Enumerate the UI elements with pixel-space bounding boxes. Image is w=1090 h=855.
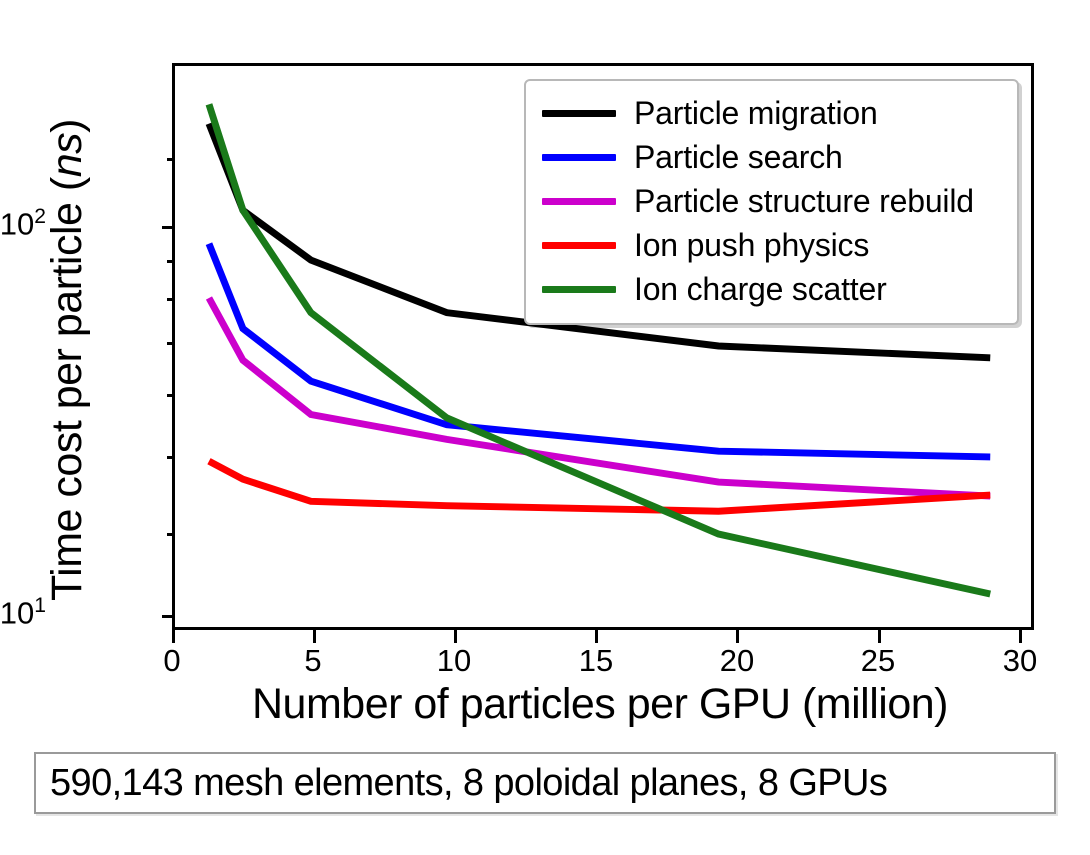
y-minor-tick-50 — [167, 456, 175, 459]
y-minor-tick-60 — [167, 394, 175, 397]
legend-label-particle-search: Particle search — [634, 139, 843, 176]
x-tick-10 — [454, 630, 457, 643]
x-tick-25 — [878, 630, 881, 643]
x-tick-5 — [313, 630, 316, 643]
x-tick-20 — [736, 630, 739, 643]
legend-swatch-icon-particle-structure-rebuild — [542, 198, 616, 205]
x-tick-label-15: 15 — [566, 645, 626, 676]
legend-swatch-icon-ion-charge-scatter — [542, 286, 616, 293]
y-minor-tick-90 — [167, 260, 175, 263]
y-axis-title: Time cost per particle (ns) — [37, 60, 97, 660]
x-tick-label-25: 25 — [848, 645, 908, 676]
legend-item-particle-migration: Particle migration — [542, 91, 1001, 135]
legend-swatch-icon-ion-push-physics — [542, 242, 616, 249]
x-axis-title: Number of particles per GPU (million) — [140, 678, 1060, 730]
legend-label-ion-push-physics: Ion push physics — [634, 227, 869, 264]
legend-label-ion-charge-scatter: Ion charge scatter — [634, 271, 887, 308]
y-axis-title-close: ) — [43, 119, 92, 133]
y-minor-tick-200 — [167, 158, 175, 161]
legend-swatch-icon-particle-migration — [542, 110, 616, 117]
y-tick-100 — [162, 226, 175, 229]
legend-item-particle-search: Particle search — [542, 135, 1001, 179]
y-tick-label-100: 102 — [0, 206, 46, 239]
y-tick-label-10: 101 — [0, 595, 46, 628]
legend-label-particle-migration: Particle migration — [634, 95, 878, 132]
x-tick-0 — [172, 630, 175, 643]
x-tick-label-30: 30 — [990, 645, 1050, 676]
y-minor-tick-40 — [167, 533, 175, 536]
y-axis-title-main: Time cost per particle ( — [43, 177, 92, 601]
legend-item-particle-structure-rebuild: Particle structure rebuild — [542, 179, 1001, 223]
caption-text: 590,143 mesh elements, 8 poloidal planes… — [36, 762, 887, 805]
legend-item-ion-push-physics: Ion push physics — [542, 223, 1001, 267]
x-tick-label-10: 10 — [424, 645, 484, 676]
x-tick-label-0: 0 — [142, 645, 202, 676]
legend-swatch-icon-particle-search — [542, 154, 616, 161]
figure-root: Time cost per particle (ns) 102 101 0 5 … — [0, 0, 1090, 855]
chart-legend: Particle migration Particle search Parti… — [524, 79, 1019, 325]
y-minor-tick-70 — [167, 342, 175, 345]
y-tick-10 — [162, 615, 175, 618]
x-tick-15 — [595, 630, 598, 643]
y-axis-title-unit: ns — [43, 133, 92, 177]
legend-item-ion-charge-scatter: Ion charge scatter — [542, 267, 1001, 311]
x-tick-label-20: 20 — [707, 645, 767, 676]
legend-label-particle-structure-rebuild: Particle structure rebuild — [634, 183, 974, 220]
x-tick-label-5: 5 — [283, 645, 343, 676]
caption-box: 590,143 mesh elements, 8 poloidal planes… — [34, 752, 1056, 814]
y-minor-tick-80 — [167, 298, 175, 301]
x-tick-30 — [1019, 630, 1022, 643]
